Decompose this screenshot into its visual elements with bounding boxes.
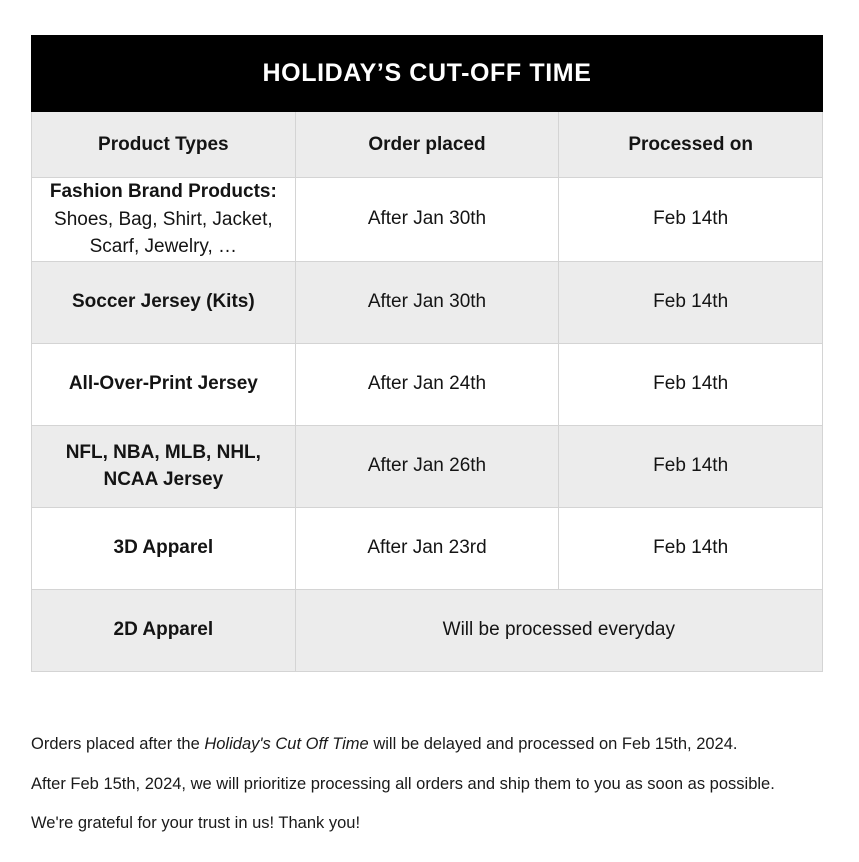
table-title-row: HOLIDAY’S CUT-OFF TIME xyxy=(32,36,823,112)
cell-processed-on: Feb 14th xyxy=(559,261,823,343)
column-header-processed-on: Processed on xyxy=(559,112,823,178)
table-row: All-Over-Print Jersey After Jan 24th Feb… xyxy=(32,343,823,425)
cell-order-placed: After Jan 30th xyxy=(295,261,559,343)
cutoff-time-page: HOLIDAY’S CUT-OFF TIME Product Types Ord… xyxy=(0,0,859,862)
cell-order-placed: After Jan 24th xyxy=(295,343,559,425)
cell-product-type: All-Over-Print Jersey xyxy=(32,343,296,425)
column-header-order-placed: Order placed xyxy=(295,112,559,178)
table-row: 3D Apparel After Jan 23rd Feb 14th xyxy=(32,507,823,589)
cell-order-placed: After Jan 30th xyxy=(295,178,559,262)
table-row: Soccer Jersey (Kits) After Jan 30th Feb … xyxy=(32,261,823,343)
cell-product-type: 3D Apparel xyxy=(32,507,296,589)
product-name: Soccer Jersey (Kits) xyxy=(44,288,283,316)
cell-product-type: 2D Apparel xyxy=(32,589,296,671)
table-header-row: Product Types Order placed Processed on xyxy=(32,112,823,178)
product-name: NFL, NBA, MLB, NHL, NCAA Jersey xyxy=(44,439,283,494)
cell-order-placed: After Jan 26th xyxy=(295,425,559,507)
page-title: HOLIDAY’S CUT-OFF TIME xyxy=(263,59,592,87)
table-title-cell: HOLIDAY’S CUT-OFF TIME xyxy=(32,36,823,112)
product-name: 2D Apparel xyxy=(44,616,283,644)
footer-notes: Orders placed after the Holiday's Cut Of… xyxy=(31,736,841,832)
note-line-3: We're grateful for your trust in us! Tha… xyxy=(31,815,841,832)
note-line-1: Orders placed after the Holiday's Cut Of… xyxy=(31,736,841,753)
note-line-1-part-a: Orders placed after the xyxy=(31,735,204,753)
product-name: All-Over-Print Jersey xyxy=(44,370,283,398)
note-line-1-part-b: will be delayed and processed on Feb 15t… xyxy=(369,735,738,753)
cell-processing-note-merged: Will be processed everyday xyxy=(295,589,822,671)
table-row: NFL, NBA, MLB, NHL, NCAA Jersey After Ja… xyxy=(32,425,823,507)
cell-processed-on: Feb 14th xyxy=(559,507,823,589)
cell-processed-on: Feb 14th xyxy=(559,425,823,507)
note-line-1-emphasis: Holiday's Cut Off Time xyxy=(204,735,368,753)
cell-processed-on: Feb 14th xyxy=(559,343,823,425)
cell-processed-on: Feb 14th xyxy=(559,178,823,262)
product-name: Fashion Brand Products: xyxy=(44,178,283,206)
cell-product-type: NFL, NBA, MLB, NHL, NCAA Jersey xyxy=(32,425,296,507)
cell-product-type: Fashion Brand Products: Shoes, Bag, Shir… xyxy=(32,178,296,262)
note-line-2: After Feb 15th, 2024, we will prioritize… xyxy=(31,776,841,793)
cell-product-type: Soccer Jersey (Kits) xyxy=(32,261,296,343)
product-subtitle: Shoes, Bag, Shirt, Jacket, Scarf, Jewelr… xyxy=(44,206,283,261)
table-row: Fashion Brand Products: Shoes, Bag, Shir… xyxy=(32,178,823,262)
column-header-product-types: Product Types xyxy=(32,112,296,178)
product-name: 3D Apparel xyxy=(44,534,283,562)
cell-order-placed: After Jan 23rd xyxy=(295,507,559,589)
holiday-cutoff-table: HOLIDAY’S CUT-OFF TIME Product Types Ord… xyxy=(31,35,823,672)
table-row: 2D Apparel Will be processed everyday xyxy=(32,589,823,671)
